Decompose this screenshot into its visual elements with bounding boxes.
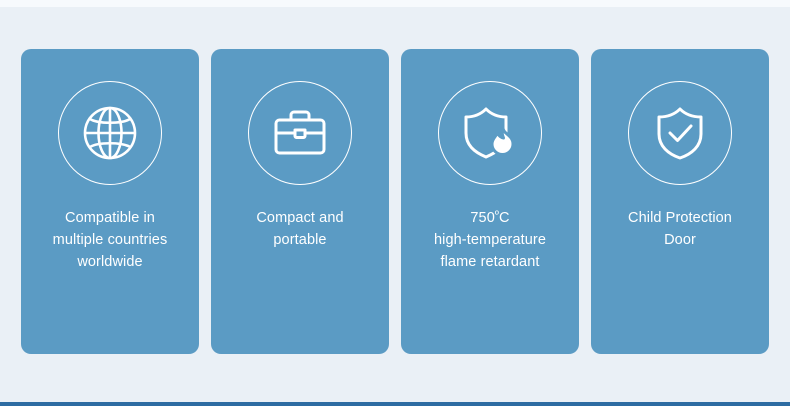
- top-strip: [0, 0, 790, 7]
- card-caption: 750ºC high-temperature flame retardant: [405, 207, 575, 273]
- caption-line: high-temperature: [405, 229, 575, 251]
- feature-card-portable[interactable]: Compact and portable: [211, 49, 389, 354]
- briefcase-icon: [271, 104, 329, 162]
- bottom-rule: [0, 402, 790, 406]
- icon-ring: [248, 81, 352, 185]
- caption-line: portable: [215, 229, 385, 251]
- caption-line-temperature: 750ºC: [405, 207, 575, 229]
- caption-line: flame retardant: [405, 251, 575, 273]
- feature-card-flame-retardant[interactable]: 750ºC high-temperature flame retardant: [401, 49, 579, 354]
- icon-ring: [628, 81, 732, 185]
- card-caption: Compact and portable: [215, 207, 385, 251]
- caption-line: multiple countries: [25, 229, 195, 251]
- caption-line: Compatible in: [25, 207, 195, 229]
- shield-flame-icon: [460, 104, 520, 162]
- card-caption: Compatible in multiple countries worldwi…: [25, 207, 195, 273]
- feature-banner: Compatible in multiple countries worldwi…: [0, 0, 790, 406]
- feature-cards-row: Compatible in multiple countries worldwi…: [21, 49, 769, 354]
- feature-card-compatible[interactable]: Compatible in multiple countries worldwi…: [21, 49, 199, 354]
- caption-line: Door: [595, 229, 765, 251]
- icon-ring: [438, 81, 542, 185]
- caption-line: Compact and: [215, 207, 385, 229]
- icon-ring: [58, 81, 162, 185]
- feature-card-child-protection[interactable]: Child Protection Door: [591, 49, 769, 354]
- caption-line: worldwide: [25, 251, 195, 273]
- globe-icon: [81, 104, 139, 162]
- shield-check-icon: [651, 104, 709, 162]
- card-caption: Child Protection Door: [595, 207, 765, 251]
- caption-line: Child Protection: [595, 207, 765, 229]
